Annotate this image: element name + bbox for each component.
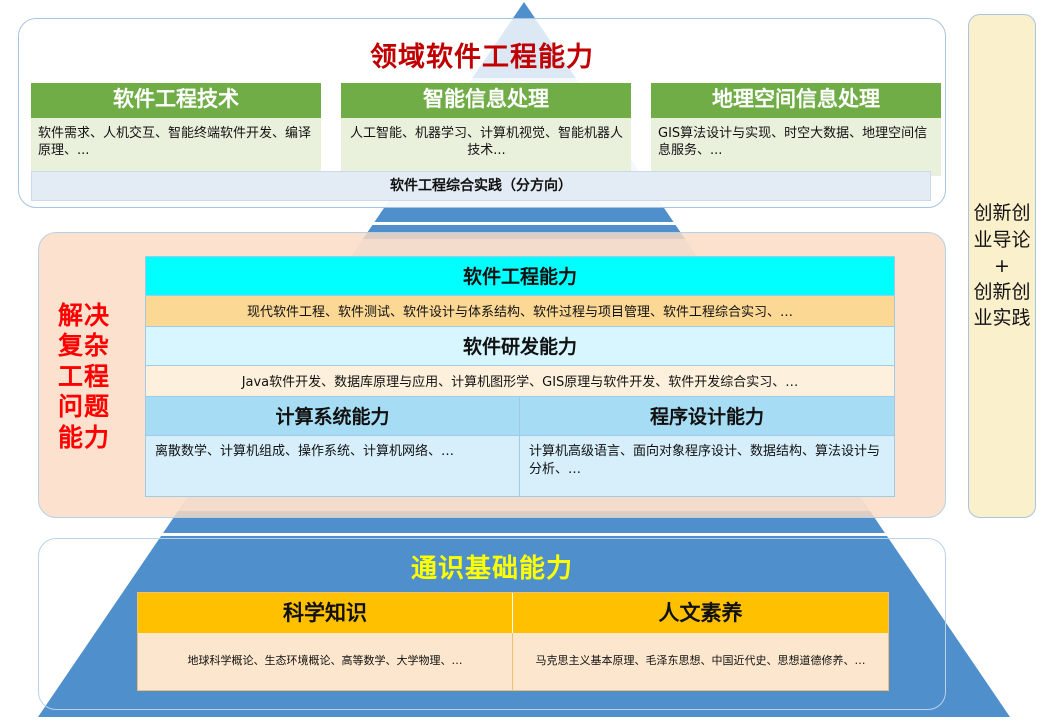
diagram-canvas: 领域软件工程能力 软件工程技术 软件需求、人机交互、智能终端软件开发、编译原理、… [0,0,1049,721]
humanities-courses: 马克思主义基本原理、毛泽东思想、中国近代史、思想道德修养、… [513,633,888,690]
domain-column-0-header: 软件工程技术 [31,83,321,118]
domain-column-2-header: 地理空间信息处理 [651,83,941,118]
table-row[interactable]: 地球科学概论、生态环境概论、高等数学、大学物理、… 马克思主义基本原理、毛泽东思… [138,633,888,690]
side-label-line: 解决 [58,301,110,332]
side-label-line: 能力 [58,423,110,454]
table-row[interactable]: 软件工程能力 [146,257,894,296]
table-row[interactable]: 软件研发能力 [146,327,894,366]
software-engineering-capability-courses: 现代软件工程、软件测试、软件设计与体系结构、软件过程与项目管理、软件工程综合实习… [146,296,894,326]
humanities-header: 人文素养 [513,593,888,633]
side-label-line: 问题 [58,392,110,423]
top-panel-title: 领域软件工程能力 [19,35,945,74]
programming-capability-title: 程序设计能力 [520,397,894,435]
comprehensive-practice-bar: 软件工程综合实践（分方向） [31,171,931,201]
domain-column-0-courses: 软件需求、人机交互、智能终端软件开发、编译原理、... [31,118,321,176]
domain-column-1-header: 智能信息处理 [341,83,631,118]
domain-column-1-courses: 人工智能、机器学习、计算机视觉、智能机器人技术... [341,118,631,176]
table-row[interactable]: 科学知识 人文素养 [138,593,888,633]
general-education-table: 科学知识 人文素养 地球科学概论、生态环境概论、高等数学、大学物理、… 马克思主… [137,592,889,691]
domain-column-2-courses: GIS算法设计与实现、时空大数据、地理空间信息服务、... [651,118,941,176]
table-row[interactable]: 计算系统能力 程序设计能力 [146,397,894,436]
domain-column-software-engineering[interactable]: 软件工程技术 软件需求、人机交互、智能终端软件开发、编译原理、... [31,83,321,176]
complex-engineering-side-label: 解决复杂工程问题能力 [48,282,120,472]
computing-system-capability-courses: 离散数学、计算机组成、操作系统、计算机网络、… [146,436,520,496]
table-row[interactable]: 现代软件工程、软件测试、软件设计与体系结构、软件过程与项目管理、软件工程综合实习… [146,296,894,327]
capability-stack-table: 软件工程能力 现代软件工程、软件测试、软件设计与体系结构、软件过程与项目管理、软… [145,256,895,497]
innovation-entrepreneurship-text: 创新创业导论 + 创新创业实践 [969,200,1035,331]
science-knowledge-courses: 地球科学概论、生态环境概论、高等数学、大学物理、… [138,633,513,690]
software-rd-capability-title: 软件研发能力 [146,327,894,365]
domain-capability-panel: 领域软件工程能力 软件工程技术 软件需求、人机交互、智能终端软件开发、编译原理、… [18,18,946,208]
software-rd-capability-courses: Java软件开发、数据库原理与应用、计算机图形学、GIS原理与软件开发、软件开发… [146,366,894,396]
software-engineering-capability-title: 软件工程能力 [146,257,894,295]
table-row[interactable]: Java软件开发、数据库原理与应用、计算机图形学、GIS原理与软件开发、软件开发… [146,366,894,397]
innovation-entrepreneurship-panel[interactable]: 创新创业导论 + 创新创业实践 [968,14,1036,518]
side-label-line: 复杂 [58,331,110,362]
science-knowledge-header: 科学知识 [138,593,513,633]
bottom-panel-title: 通识基础能力 [38,548,946,585]
computing-system-capability-title: 计算系统能力 [146,397,520,435]
programming-capability-courses: 计算机高级语言、面向对象程序设计、数据结构、算法设计与分析、… [520,436,894,496]
domain-column-intelligent-info[interactable]: 智能信息处理 人工智能、机器学习、计算机视觉、智能机器人技术... [341,83,631,176]
side-label-line: 工程 [58,362,110,393]
domain-column-geospatial-info[interactable]: 地理空间信息处理 GIS算法设计与实现、时空大数据、地理空间信息服务、... [651,83,941,176]
side-label-text: 解决复杂工程问题能力 [58,301,110,454]
table-row[interactable]: 离散数学、计算机组成、操作系统、计算机网络、… 计算机高级语言、面向对象程序设计… [146,436,894,496]
